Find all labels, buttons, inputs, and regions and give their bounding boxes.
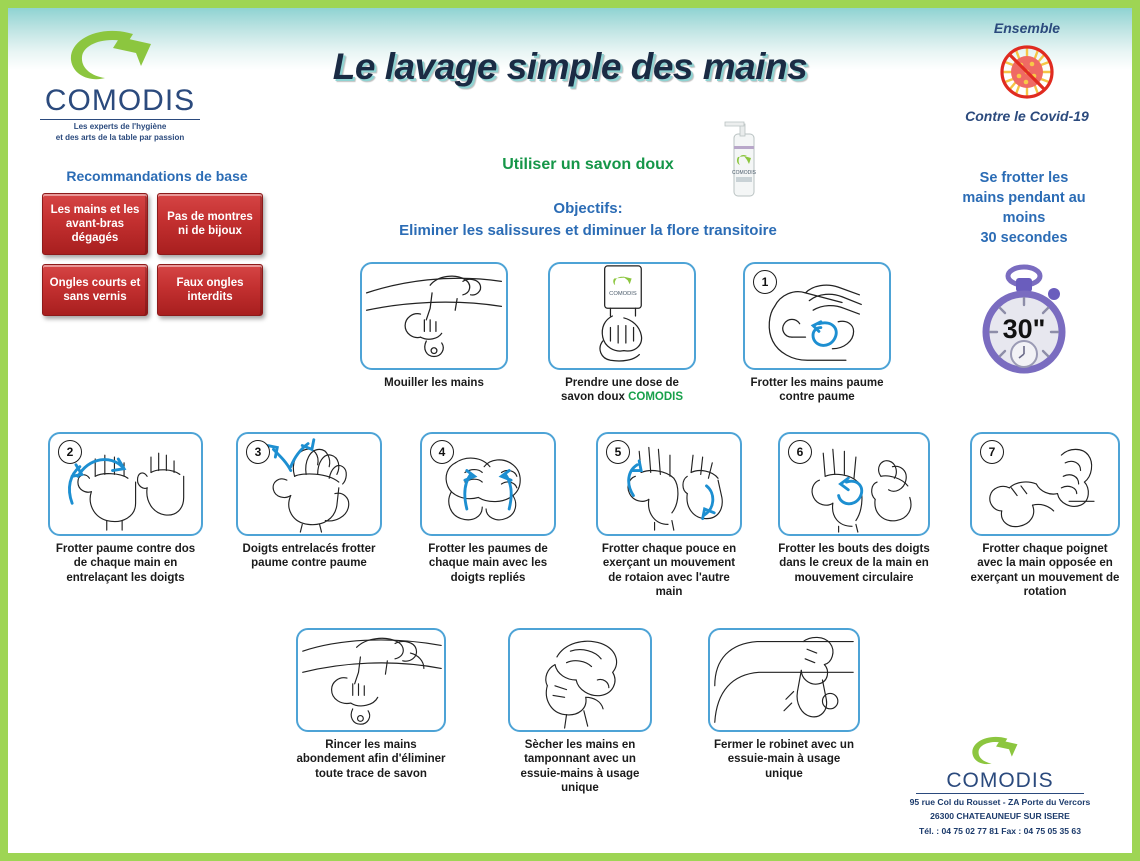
- step-caption-line2: contre paume: [743, 390, 891, 404]
- step-caption: Mouiller les mains: [360, 376, 508, 390]
- timer-line-1: Se frotter les: [934, 168, 1114, 188]
- step-card-soap-dose: COMODIS Prendre une dose de savon doux C…: [548, 262, 696, 405]
- step-caption: Fermer le robinet avec un essuie-main à …: [708, 738, 860, 781]
- recommendations-grid: Les mains et les avant-bras dégagés Pas …: [42, 193, 272, 316]
- step-card-dry: Sècher les mains en tamponnant avec un e…: [508, 628, 652, 796]
- objectives-label: Objectifs:: [328, 198, 848, 220]
- comodis-swoosh-icon: [969, 732, 1031, 770]
- timer-line-3: moins: [934, 208, 1114, 228]
- recommendation-box-3: Ongles courts et sans vernis: [42, 264, 148, 316]
- step-caption: Doigts entrelacés frotter paume contre p…: [236, 542, 382, 571]
- step-caption: Frotter les paumes de chaque main avec l…: [420, 542, 556, 585]
- recommendation-box-2: Pas de montres ni de bijoux: [157, 193, 263, 255]
- svg-text:COMODIS: COMODIS: [609, 291, 637, 297]
- logo-divider: [40, 119, 200, 120]
- step-illustration-frame: [508, 628, 652, 732]
- logo-tagline-2: et des arts de la table par passion: [30, 133, 210, 144]
- recommendation-box-4: Faux ongles interdits: [157, 264, 263, 316]
- step-caption-line1: Prendre une dose de: [548, 376, 696, 390]
- step-caption-brand: COMODIS: [628, 391, 683, 403]
- step-caption: Sècher les mains en tamponnant avec un e…: [508, 738, 652, 796]
- objectives-block: Objectifs: Eliminer les salissures et di…: [328, 198, 848, 242]
- step-caption: Frotter chaque poignet avec la main oppo…: [970, 542, 1120, 600]
- step-card-5: 5: [596, 432, 742, 600]
- svg-text:COMODIS: COMODIS: [732, 170, 757, 176]
- step-caption: Frotter les bouts des doigts dans le cre…: [778, 542, 930, 585]
- footer-brand: COMODIS 95 rue Col du Rousset - ZA Porte…: [890, 732, 1110, 837]
- timer-line-2: mains pendant au: [934, 188, 1114, 208]
- step-card-close-tap: Fermer le robinet avec un essuie-main à …: [708, 628, 860, 781]
- covid-top-label: Ensemble: [942, 20, 1112, 36]
- footer-address-line-2: 26300 CHATEAUNEUF SUR ISERE: [890, 810, 1110, 822]
- footer-wordmark: COMODIS: [890, 770, 1110, 791]
- step-illustration-frame: 6: [778, 432, 930, 536]
- step-number-badge: 3: [246, 440, 270, 464]
- step-card-wet-hands: Mouiller les mains: [360, 262, 508, 390]
- step-caption-line1: Frotter les mains paume: [743, 376, 891, 390]
- timer-line-4: 30 secondes: [934, 228, 1114, 248]
- recommendation-box-1: Les mains et les avant-bras dégagés: [42, 193, 148, 255]
- logo-tagline-1: Les experts de l'hygiène: [30, 122, 210, 133]
- step-card-rinse: Rincer les mains abondement afin d'élimi…: [296, 628, 446, 781]
- rinse-hands-icon: [298, 630, 444, 730]
- step-illustration-frame: [708, 628, 860, 732]
- step-illustration-frame: COMODIS: [548, 262, 696, 370]
- step-number-badge: 4: [430, 440, 454, 464]
- virus-crossed-out-icon: [982, 38, 1072, 106]
- step-illustration-frame: [360, 262, 508, 370]
- step-caption: Frotter chaque pouce en exerçant un mouv…: [596, 542, 742, 600]
- step-card-7: 7: [970, 432, 1120, 600]
- step-caption: Frotter les mains paume contre paume: [743, 376, 891, 405]
- step-number-badge: 5: [606, 440, 630, 464]
- objectives-text: Eliminer les salissures et diminuer la f…: [328, 220, 848, 242]
- step-card-2: 2: [48, 432, 203, 585]
- step-card-4: 4: [420, 432, 556, 585]
- step-number-badge: 6: [788, 440, 812, 464]
- footer-address-line-1: 95 rue Col du Rousset - ZA Porte du Verc…: [890, 796, 1110, 808]
- timer-panel: Se frotter les mains pendant au moins 30…: [934, 168, 1114, 376]
- close-tap-icon: [710, 630, 858, 730]
- step-illustration-frame: 3: [236, 432, 382, 536]
- step-illustration-frame: [296, 628, 446, 732]
- step-caption: Frotter paume contre dos de chaque main …: [48, 542, 203, 585]
- covid-bottom-label: Contre le Covid-19: [942, 108, 1112, 124]
- dry-hands-icon: [510, 630, 650, 730]
- step-illustration-frame: 1: [743, 262, 891, 370]
- soap-dispenser-icon: COMODIS: [720, 116, 764, 198]
- step-caption-line2: savon doux: [561, 391, 628, 403]
- logo-wordmark: COMODIS: [30, 86, 210, 116]
- step-card-3: 3: [236, 432, 382, 571]
- stopwatch-dial-label: 30": [1003, 314, 1046, 344]
- step-caption: Rincer les mains abondement afin d'élimi…: [296, 738, 446, 781]
- step-card-6: 6: [778, 432, 930, 585]
- step-card-1: 1: [743, 262, 891, 405]
- wet-hands-icon: [362, 264, 506, 368]
- step-illustration-frame: 5: [596, 432, 742, 536]
- covid-badge: Ensemble Contre le Covid-19: [942, 20, 1112, 124]
- soap-dose-icon: COMODIS: [550, 264, 694, 368]
- recommendations-panel: Recommandations de base Les mains et les…: [42, 168, 272, 316]
- footer-divider: [916, 793, 1084, 794]
- poster-root: COMODIS Les experts de l'hygiène et des …: [0, 0, 1140, 861]
- step-number-badge: 2: [58, 440, 82, 464]
- step-illustration-frame: 7: [970, 432, 1120, 536]
- footer-address-line-3: Tél. : 04 75 02 77 81 Fax : 04 75 05 35 …: [890, 825, 1110, 837]
- step-number-badge: 7: [980, 440, 1004, 464]
- step-illustration-frame: 4: [420, 432, 556, 536]
- step-illustration-frame: 2: [48, 432, 203, 536]
- recommendations-title: Recommandations de base: [42, 168, 272, 184]
- step-number-badge: 1: [753, 270, 777, 294]
- step-caption: Prendre une dose de savon doux COMODIS: [548, 376, 696, 405]
- stopwatch-icon: 30": [968, 258, 1080, 376]
